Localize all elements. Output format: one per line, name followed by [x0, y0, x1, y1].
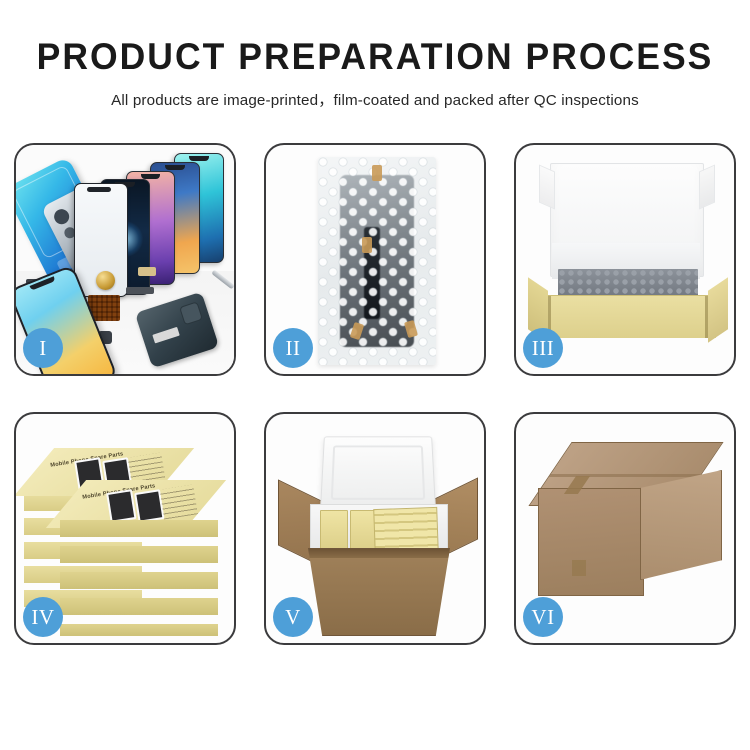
- page-subtitle: All products are image-printed，film-coat…: [0, 88, 750, 110]
- box-side: [60, 624, 218, 636]
- box-seam: [705, 296, 708, 338]
- step-badge-6: VI: [523, 597, 563, 637]
- part-chip-icon: [138, 267, 156, 276]
- step-panel-6[interactable]: VI Sealed brown shipping carton ready fo…: [514, 412, 736, 645]
- bubble-texture: [318, 157, 436, 365]
- carton-side-face: [640, 470, 722, 580]
- page-root: PRODUCT PREPARATION PROCESS All products…: [0, 0, 750, 750]
- yellow-boxes-stacked: [373, 507, 439, 555]
- box-side: [60, 572, 218, 589]
- step-panel-5[interactable]: V Boxes loaded into foam-lined shipping …: [264, 412, 486, 645]
- box-side: [60, 520, 218, 537]
- phone-housing-icon: [135, 292, 219, 369]
- tape-icon: [372, 165, 382, 181]
- page-title: PRODUCT PREPARATION PROCESS: [15, 38, 735, 75]
- part-flex-cable-b-icon: [126, 287, 154, 294]
- tape-icon: [362, 237, 372, 253]
- carton-body-icon: [308, 548, 450, 636]
- bubble-wrap-bag: [318, 157, 436, 365]
- step-badge-3: III: [523, 328, 563, 368]
- box-side: [60, 598, 218, 615]
- process-step-grid: I Mobile phone screens, displays and spa…: [14, 143, 737, 694]
- phone-fan-group: [88, 153, 234, 285]
- open-carton-group: [282, 432, 472, 628]
- step-panel-1[interactable]: I Mobile phone screens, displays and spa…: [14, 143, 236, 376]
- step-panel-2[interactable]: II Single part sealed in bubble wrap bag: [264, 143, 486, 376]
- repair-tweezers-icon: [211, 270, 234, 290]
- box-spec-lines: [160, 485, 198, 520]
- step-panel-3[interactable]: III Part placed in yellow kraft box with…: [514, 143, 736, 376]
- step-badge-1: I: [23, 328, 63, 368]
- step-badge-5: V: [273, 597, 313, 637]
- foam-lid-icon: [320, 436, 436, 510]
- step-badge-4: IV: [23, 597, 63, 637]
- carton-front-face: [538, 488, 644, 596]
- header: PRODUCT PREPARATION PROCESS All products…: [0, 0, 750, 110]
- kraft-box-base-icon: [540, 295, 716, 338]
- box-window: [106, 489, 136, 523]
- step-badge-2: II: [273, 328, 313, 368]
- yellow-box-item: [320, 510, 348, 550]
- sealed-carton-group: [536, 442, 722, 610]
- notch-icon: [165, 165, 184, 170]
- box-side: [60, 546, 218, 563]
- carton-tape-front: [572, 560, 586, 576]
- step-panel-4[interactable]: Mobile Phone Spare Parts Mobile Phone Sp…: [14, 412, 236, 645]
- part-speaker-coil-icon: [96, 271, 115, 290]
- notch-icon: [189, 156, 208, 161]
